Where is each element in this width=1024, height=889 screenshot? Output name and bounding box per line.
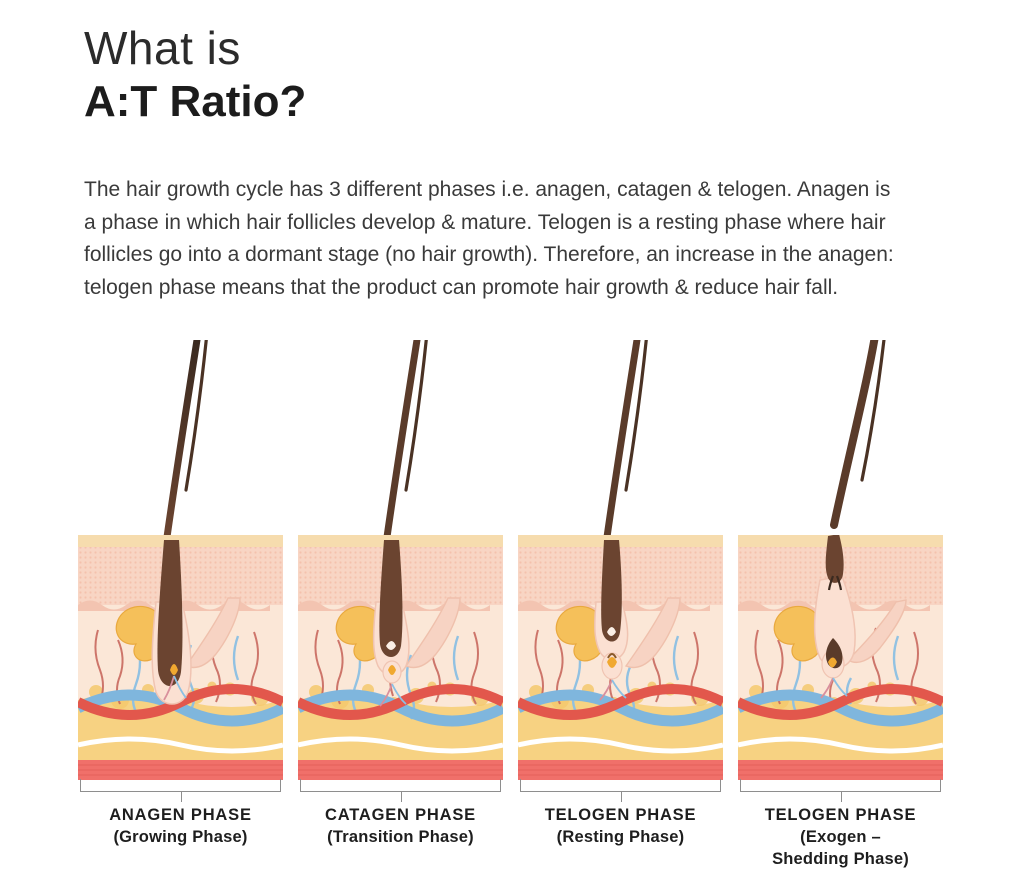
phase-panel-telogen-resting: TELOGEN PHASE (Resting Phase) [518, 340, 723, 840]
caption-sub-line-1: (Exogen – [720, 826, 961, 848]
caption-main: CATAGEN PHASE [280, 804, 521, 826]
skin-cross-section-anagen [78, 340, 283, 800]
panel-bracket [298, 777, 503, 799]
title-line-2: A:T Ratio? [84, 76, 306, 128]
hair-cycle-diagram: ANAGEN PHASE (Growing Phase) [0, 340, 1024, 840]
panel-caption-catagen: CATAGEN PHASE (Transition Phase) [280, 804, 521, 848]
phase-panel-telogen-exogen: TELOGEN PHASE (Exogen – Shedding Phase) [738, 340, 943, 840]
page-title: What is A:T Ratio? [84, 22, 306, 128]
panel-caption-telogen-resting: TELOGEN PHASE (Resting Phase) [500, 804, 741, 848]
panel-bracket [518, 777, 723, 799]
skin-cross-section-telogen [518, 340, 723, 800]
stratum-corneum-layer [78, 535, 283, 547]
skin-cross-section-catagen [298, 340, 503, 800]
panel-bracket [78, 777, 283, 799]
title-line-1: What is [84, 22, 306, 74]
caption-sub: (Growing Phase) [60, 826, 301, 848]
dermal-papilla [383, 661, 401, 683]
panel-bracket [738, 777, 943, 799]
body-paragraph: The hair growth cycle has 3 different ph… [84, 174, 894, 304]
caption-sub: (Transition Phase) [280, 826, 521, 848]
hair-bulb [601, 540, 622, 642]
phase-panel-catagen: CATAGEN PHASE (Transition Phase) [298, 340, 503, 840]
caption-main: ANAGEN PHASE [60, 804, 301, 826]
hair-bulb [379, 540, 402, 657]
caption-sub-line-2: Shedding Phase) [720, 848, 961, 870]
infographic-page: What is A:T Ratio? The hair growth cycle… [0, 0, 1024, 889]
skin-cross-section-exogen [738, 340, 943, 800]
phase-panel-anagen: ANAGEN PHASE (Growing Phase) [78, 340, 283, 840]
dermal-papilla [602, 653, 622, 679]
caption-main: TELOGEN PHASE [500, 804, 741, 826]
panel-caption-anagen: ANAGEN PHASE (Growing Phase) [60, 804, 301, 848]
caption-sub: (Resting Phase) [500, 826, 741, 848]
panel-caption-telogen-exogen: TELOGEN PHASE (Exogen – Shedding Phase) [720, 804, 961, 870]
caption-main: TELOGEN PHASE [720, 804, 961, 826]
